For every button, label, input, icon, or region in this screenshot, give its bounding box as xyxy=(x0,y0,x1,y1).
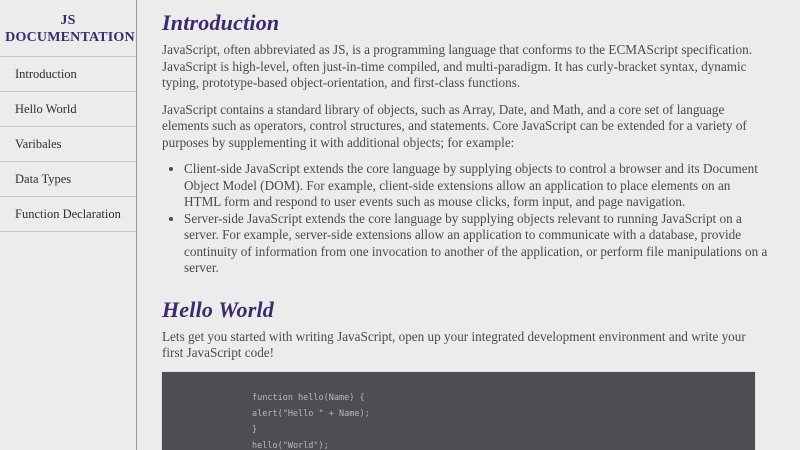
introduction-bullet-list: Client-side JavaScript extends the core … xyxy=(162,161,770,277)
section-title-hello-world: Hello World xyxy=(162,279,770,329)
introduction-paragraph-2: JavaScript contains a standard library o… xyxy=(162,102,770,152)
sidebar-item-introduction[interactable]: Introduction xyxy=(0,56,136,91)
code-block: function hello(Name) { alert("Hello " + … xyxy=(162,372,755,450)
sidebar-title-line-2: DOCUMENTATION xyxy=(4,29,136,46)
section-introduction: Introduction JavaScript, often abbreviat… xyxy=(162,0,770,277)
introduction-paragraph-1: JavaScript, often abbreviated as JS, is … xyxy=(162,42,770,92)
hello-world-paragraph-1: Lets get you started with writing JavaSc… xyxy=(162,329,770,362)
list-item: Server-side JavaScript extends the core … xyxy=(184,211,770,277)
main-doc: Introduction JavaScript, often abbreviat… xyxy=(137,0,800,450)
sidebar-title-line-1: JS xyxy=(0,12,136,29)
sidebar-item-varibales[interactable]: Varibales xyxy=(0,126,136,161)
sidebar-item-data-types[interactable]: Data Types xyxy=(0,161,136,196)
sidebar-navbar: JS DOCUMENTATION Introduction Hello Worl… xyxy=(0,0,137,450)
sidebar-item-hello-world[interactable]: Hello World xyxy=(0,91,136,126)
documentation-page: JS DOCUMENTATION Introduction Hello Worl… xyxy=(0,0,800,450)
sidebar-item-function-declaration[interactable]: Function Declaration xyxy=(0,196,136,232)
sidebar-link-list: Introduction Hello World Varibales Data … xyxy=(0,56,136,232)
section-title-introduction: Introduction xyxy=(162,0,770,42)
sidebar-title: JS DOCUMENTATION xyxy=(0,0,136,56)
list-item: Client-side JavaScript extends the core … xyxy=(184,161,770,211)
section-hello-world: Hello World Lets get you started with wr… xyxy=(162,279,770,450)
code-snippet: function hello(Name) { alert("Hello " + … xyxy=(162,390,755,450)
